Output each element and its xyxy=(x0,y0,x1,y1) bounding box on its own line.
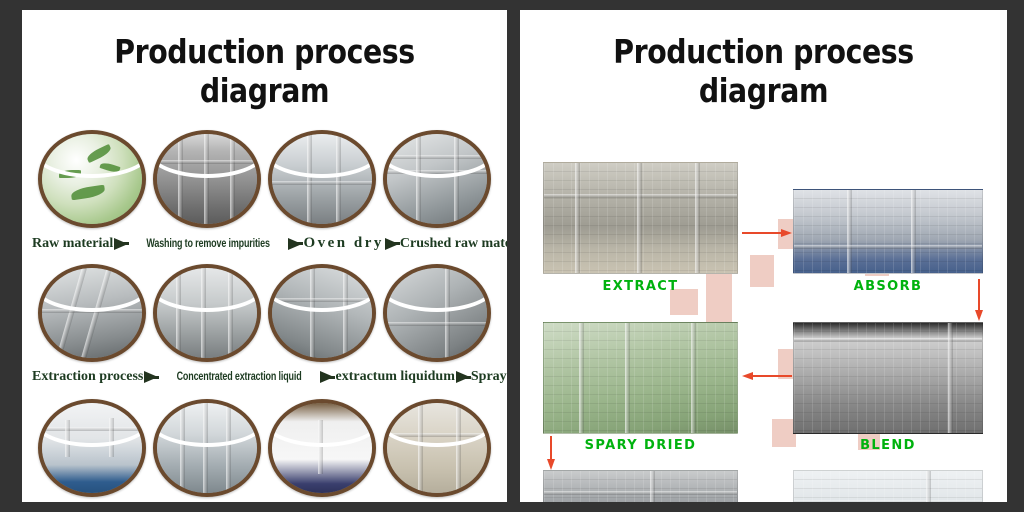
label-extract: EXTRACT xyxy=(543,279,738,294)
raw-material-photo xyxy=(38,130,146,228)
flow-arrow-absorb-to-blend xyxy=(975,279,983,321)
step-testing-of-each-project[interactable] xyxy=(36,399,148,497)
arrow-right-icon xyxy=(385,238,399,250)
packing-operator-photo xyxy=(543,470,738,502)
caption-extractum-liquidum: extractum liquidum xyxy=(335,369,454,385)
right-panel: Production process diagram EXTRACT xyxy=(520,10,1007,502)
step-washing[interactable] xyxy=(151,130,263,228)
arrow-right-icon xyxy=(320,371,334,383)
step-raw-material[interactable] xyxy=(36,130,148,228)
arrow-right-icon xyxy=(288,238,302,250)
caption-washing: Washing to remove impurities xyxy=(147,238,270,250)
step-crushed-raw-materials[interactable] xyxy=(381,130,493,228)
pallet-shipping-photo xyxy=(383,399,491,497)
left-row-2-images xyxy=(22,264,507,362)
step-extractum-liquidum[interactable] xyxy=(266,264,378,362)
left-row-3-images xyxy=(22,399,507,497)
step-extraction-process[interactable] xyxy=(36,264,148,362)
label-absorb: ABSORB xyxy=(793,279,983,294)
absorption-columns-photo xyxy=(793,189,983,274)
arrow-right-icon xyxy=(114,238,128,250)
caption-crushed-raw-materials: Crushed raw materials xyxy=(400,236,507,252)
liquid-extract-photo xyxy=(268,264,376,362)
oven-dryer-photo xyxy=(268,130,376,228)
label-blend: BLEND xyxy=(793,438,983,453)
testing-laboratory-photo xyxy=(793,470,983,502)
spray-drying-tower-photo xyxy=(543,322,738,434)
arrow-right-icon xyxy=(144,371,158,383)
caption-extraction-process: Extraction process xyxy=(32,369,143,385)
step-transportation-delivery[interactable] xyxy=(381,399,493,497)
watermark-block xyxy=(750,255,774,287)
qc-lab-photo xyxy=(38,399,146,497)
spray-dryer-photo xyxy=(383,264,491,362)
extraction-plant-photo xyxy=(38,264,146,362)
caption-raw-material: Raw material xyxy=(32,236,113,252)
left-panel-title: Production process diagram xyxy=(56,32,473,110)
step-spray-drying[interactable] xyxy=(381,264,493,362)
left-row-1-captions: Raw material Washing to remove impuritie… xyxy=(22,235,507,252)
packaging-bags-photo xyxy=(268,399,376,497)
left-row-1-images xyxy=(22,130,507,228)
blending-machine-photo xyxy=(793,322,983,434)
arrow-right-icon xyxy=(456,371,470,383)
caption-spray-drying: Spray drying xyxy=(471,369,507,385)
flow-arrow-extract-to-absorb xyxy=(742,229,792,237)
washing-tanks-photo xyxy=(153,130,261,228)
flow-arrow-blend-to-spary-dried xyxy=(742,372,792,380)
left-row-2-captions: Extraction process Concentrated extracti… xyxy=(22,369,507,385)
label-spary-dried: SPARY DRIED xyxy=(543,438,738,453)
left-panel: Production process diagram xyxy=(22,10,507,502)
step-package[interactable] xyxy=(266,399,378,497)
caption-concentrated-extraction-liquid: Concentrated extraction liquid xyxy=(177,371,302,383)
step-concentrated-extraction-liquid[interactable] xyxy=(151,264,263,362)
right-panel-title: Production process diagram xyxy=(554,32,973,110)
right-flow-stage: EXTRACT ABSORB SPARY DRIED BLEN xyxy=(520,114,1007,502)
extraction-vessels-photo xyxy=(543,162,738,274)
crushing-line-photo xyxy=(383,130,491,228)
step-extract-products[interactable] xyxy=(151,399,263,497)
caption-oven-dry: Oven dry xyxy=(303,235,383,252)
extract-products-photo xyxy=(153,399,261,497)
flow-arrow-spary-dried-to-pack xyxy=(547,436,555,470)
screenshot-root: Production process diagram xyxy=(0,0,1024,512)
concentration-tanks-photo xyxy=(153,264,261,362)
step-oven-dry[interactable] xyxy=(266,130,378,228)
